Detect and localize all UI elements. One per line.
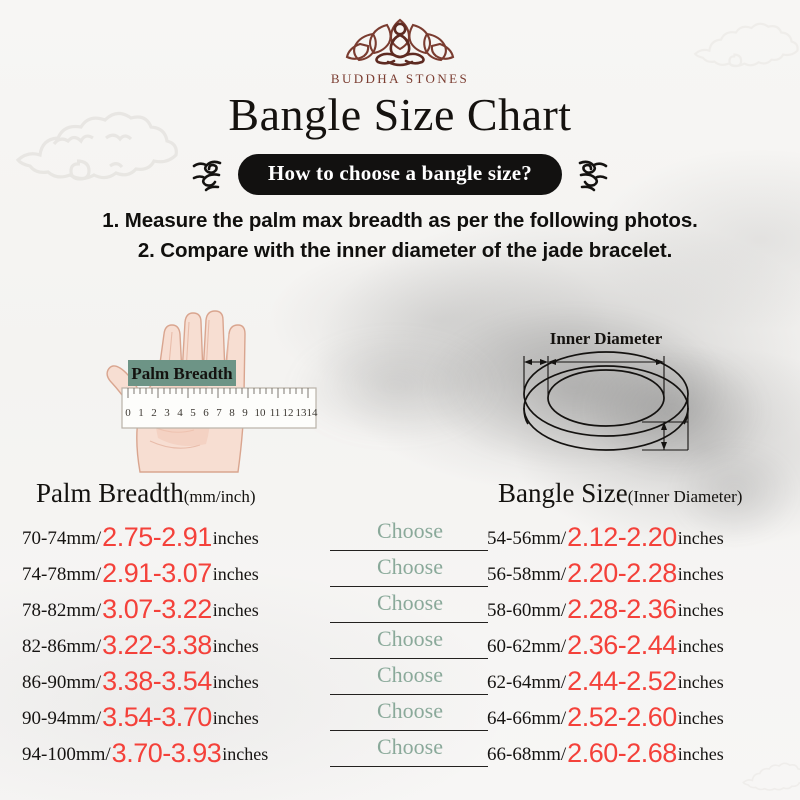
svg-text:11: 11 <box>270 407 281 419</box>
mm-range: 58-60mm/ <box>487 600 566 622</box>
svg-text:10: 10 <box>255 407 267 419</box>
choose-slot[interactable]: Choose <box>330 736 490 772</box>
section-title: Bangle Size <box>498 478 628 508</box>
table-row: 60-62mm/2.36-2.44inches <box>487 628 787 664</box>
mm-range: 62-64mm/ <box>487 672 566 694</box>
unit-label: inches <box>213 564 259 585</box>
section-unit: (Inner Diameter) <box>628 487 743 506</box>
mm-range: 78-82mm/ <box>22 600 101 622</box>
inch-range: 2.12-2.20 <box>567 522 677 553</box>
unit-label: inches <box>678 636 724 657</box>
svg-text:8: 8 <box>229 407 235 419</box>
choose-label[interactable]: Choose <box>348 626 472 652</box>
svg-text:4: 4 <box>177 407 183 419</box>
unit-label: inches <box>678 708 724 729</box>
unit-label: inches <box>678 564 724 585</box>
mm-range: 54-56mm/ <box>487 528 566 550</box>
choose-slot[interactable]: Choose <box>330 664 490 700</box>
choose-underline <box>330 730 488 731</box>
inch-range: 2.60-2.68 <box>567 738 677 769</box>
svg-text:14: 14 <box>307 407 319 419</box>
palm-breadth-table: 70-74mm/2.75-2.91inches 74-78mm/2.91-3.0… <box>22 520 352 772</box>
bangle-size-table: 54-56mm/2.12-2.20inches 56-58mm/2.20-2.2… <box>487 520 787 772</box>
choose-label[interactable]: Choose <box>348 734 472 760</box>
bangle-inner-diameter-illustration: Inner Diameter <box>498 326 738 476</box>
bangle-size-chart-page: BUDDHA STONES Bangle Size Chart How to c… <box>0 0 800 800</box>
svg-text:3: 3 <box>164 407 170 419</box>
choose-label[interactable]: Choose <box>348 554 472 580</box>
svg-text:7: 7 <box>216 407 222 419</box>
unit-label: inches <box>213 600 259 621</box>
inch-range: 2.52-2.60 <box>567 702 677 733</box>
inch-range: 3.54-3.70 <box>102 702 212 733</box>
mm-range: 74-78mm/ <box>22 564 101 586</box>
mm-range: 66-68mm/ <box>487 744 566 766</box>
unit-label: inches <box>213 636 259 657</box>
choose-column: Choose Choose Choose Choose Choose Choos… <box>330 520 490 772</box>
hand-palm-measure-illustration: Palm Breadth 012 345 678 91011 121314 <box>90 276 340 476</box>
table-row: 62-64mm/2.44-2.52inches <box>487 664 787 700</box>
choose-underline <box>330 586 488 587</box>
table-row: 70-74mm/2.75-2.91inches <box>22 520 352 556</box>
choose-slot[interactable]: Choose <box>330 700 490 736</box>
choose-underline <box>330 694 488 695</box>
page-title: Bangle Size Chart <box>0 88 800 141</box>
ruler: 012 345 678 91011 121314 <box>122 388 318 428</box>
unit-label: inches <box>222 744 268 765</box>
table-row: 54-56mm/2.12-2.20inches <box>487 520 787 556</box>
svg-text:12: 12 <box>283 407 294 419</box>
inch-range: 3.70-3.93 <box>112 738 222 769</box>
inch-range: 3.22-3.38 <box>102 630 212 661</box>
svg-text:0: 0 <box>125 407 131 419</box>
choose-underline <box>330 550 488 551</box>
instruction-list: 1. Measure the palm max breadth as per t… <box>0 206 800 265</box>
inner-diameter-label: Inner Diameter <box>550 329 663 348</box>
mm-range: 70-74mm/ <box>22 528 101 550</box>
lotus-meditation-icon <box>340 8 460 70</box>
mm-range: 56-58mm/ <box>487 564 566 586</box>
choose-label[interactable]: Choose <box>348 662 472 688</box>
subtitle-row: How to choose a bangle size? <box>0 154 800 195</box>
unit-label: inches <box>213 672 259 693</box>
inch-range: 2.91-3.07 <box>102 558 212 589</box>
choose-label[interactable]: Choose <box>348 590 472 616</box>
table-row: 74-78mm/2.91-3.07inches <box>22 556 352 592</box>
inch-range: 3.07-3.22 <box>102 594 212 625</box>
table-row: 78-82mm/3.07-3.22inches <box>22 592 352 628</box>
table-row: 64-66mm/2.52-2.60inches <box>487 700 787 736</box>
brand-logo: BUDDHA STONES <box>0 8 800 87</box>
inch-range: 2.75-2.91 <box>102 522 212 553</box>
choose-slot[interactable]: Choose <box>330 520 490 556</box>
table-row: 56-58mm/2.20-2.28inches <box>487 556 787 592</box>
unit-label: inches <box>678 600 724 621</box>
unit-label: inches <box>213 528 259 549</box>
svg-text:9: 9 <box>242 407 248 419</box>
section-unit: (mm/inch) <box>184 487 256 506</box>
instruction-item: 2. Compare with the inner diameter of th… <box>0 236 800 266</box>
choose-underline <box>330 658 488 659</box>
table-row: 66-68mm/2.60-2.68inches <box>487 736 787 772</box>
mm-range: 90-94mm/ <box>22 708 101 730</box>
flourish-ornament-icon <box>576 155 610 195</box>
inch-range: 2.28-2.36 <box>567 594 677 625</box>
table-row: 82-86mm/3.22-3.38inches <box>22 628 352 664</box>
mm-range: 60-62mm/ <box>487 636 566 658</box>
table-row: 86-90mm/3.38-3.54inches <box>22 664 352 700</box>
mm-range: 86-90mm/ <box>22 672 101 694</box>
svg-text:2: 2 <box>151 407 157 419</box>
unit-label: inches <box>678 744 724 765</box>
unit-label: inches <box>213 708 259 729</box>
section-header-palm-breadth: Palm Breadth(mm/inch) <box>36 478 256 509</box>
mm-range: 64-66mm/ <box>487 708 566 730</box>
inch-range: 2.20-2.28 <box>567 558 677 589</box>
mm-range: 82-86mm/ <box>22 636 101 658</box>
unit-label: inches <box>678 528 724 549</box>
choose-underline <box>330 766 488 767</box>
svg-text:6: 6 <box>203 407 209 419</box>
subtitle-pill: How to choose a bangle size? <box>238 154 562 195</box>
choose-label[interactable]: Choose <box>348 518 472 544</box>
choose-label[interactable]: Choose <box>348 698 472 724</box>
instruction-item: 1. Measure the palm max breadth as per t… <box>0 206 800 236</box>
table-row: 58-60mm/2.28-2.36inches <box>487 592 787 628</box>
brand-name: BUDDHA STONES <box>0 71 800 87</box>
choose-slot[interactable]: Choose <box>330 556 490 592</box>
mm-range: 94-100mm/ <box>22 744 111 766</box>
unit-label: inches <box>678 672 724 693</box>
svg-text:13: 13 <box>296 407 308 419</box>
table-row: 94-100mm/3.70-3.93inches <box>22 736 352 772</box>
inch-range: 3.38-3.54 <box>102 666 212 697</box>
choose-underline <box>330 622 488 623</box>
choose-slot[interactable]: Choose <box>330 592 490 628</box>
table-row: 90-94mm/3.54-3.70inches <box>22 700 352 736</box>
choose-slot[interactable]: Choose <box>330 628 490 664</box>
inch-range: 2.36-2.44 <box>567 630 677 661</box>
flourish-ornament-icon <box>190 155 224 195</box>
svg-text:5: 5 <box>190 407 196 419</box>
section-header-bangle-size: Bangle Size(Inner Diameter) <box>498 478 742 509</box>
section-title: Palm Breadth <box>36 478 184 508</box>
palm-breadth-label: Palm Breadth <box>131 364 233 383</box>
inch-range: 2.44-2.52 <box>567 666 677 697</box>
svg-text:1: 1 <box>138 407 144 419</box>
